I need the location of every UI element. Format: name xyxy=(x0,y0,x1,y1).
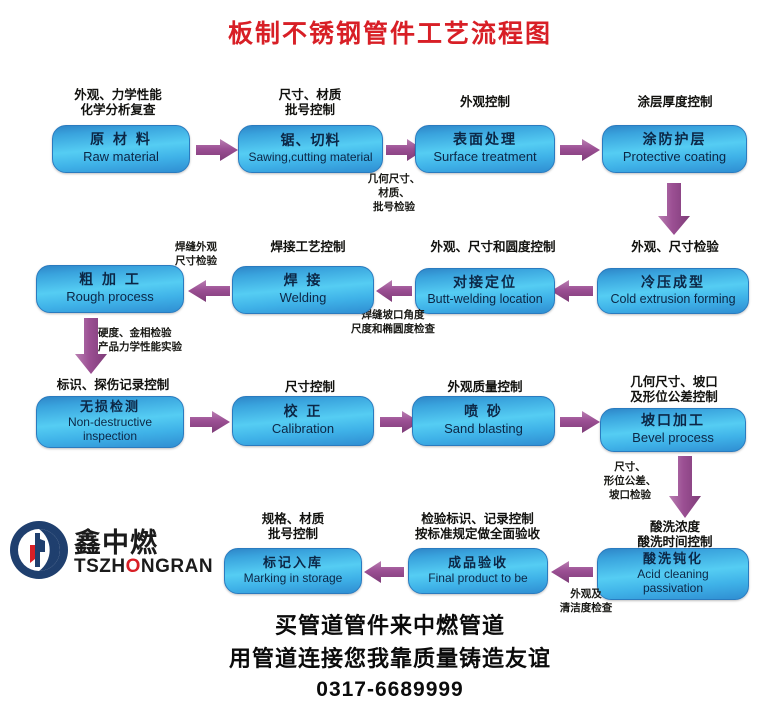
note-bevel-check: 尺寸、 形位公差、 坡口检验 xyxy=(592,460,668,503)
step-welding-cn: 焊 接 xyxy=(284,274,323,290)
cap-welding: 焊接工艺控制 xyxy=(238,240,378,255)
step-welding-en: Welding xyxy=(280,291,327,306)
step-acid-cleaning-en: Acid cleaning passivation xyxy=(637,568,708,595)
cap-calibration: 尺寸控制 xyxy=(240,380,380,395)
step-final-product-en: Final product to be xyxy=(428,572,527,585)
cap-acid-cleaning: 酸洗浓度 酸洗时间控制 xyxy=(600,520,750,550)
step-rough-process-cn: 粗 加 工 xyxy=(79,273,141,289)
cap-protective-coating: 涂层厚度控制 xyxy=(600,95,750,110)
note-after-sawing: 几何尺寸、 材质、 批号检验 xyxy=(358,172,430,215)
step-calibration-en: Calibration xyxy=(272,422,334,437)
step-marking-storage-cn: 标记入库 xyxy=(263,557,323,572)
footer-phone: 0317-6689999 xyxy=(0,678,780,702)
step-sand-blasting-cn: 喷 砂 xyxy=(464,405,503,421)
note-hardness: 硬度、金相检验 产品力学性能实验 xyxy=(98,326,238,354)
step-marking-storage[interactable]: 标记入库 Marking in storage xyxy=(224,548,362,594)
arrow-left-cold-to-butt xyxy=(551,279,593,303)
arrow-right-surface-to-coating xyxy=(560,138,600,162)
step-welding[interactable]: 焊 接 Welding xyxy=(232,266,374,314)
logo-en-o: O xyxy=(126,556,141,577)
step-raw-material[interactable]: 原 材 料 Raw material xyxy=(52,125,190,173)
arrow-left-butt-to-welding xyxy=(376,279,412,303)
step-cold-extrusion[interactable]: 冷压成型 Cold extrusion forming xyxy=(597,268,749,314)
step-rough-process[interactable]: 粗 加 工 Rough process xyxy=(36,265,184,313)
step-surface-treatment-cn: 表面处理 xyxy=(453,133,517,149)
logo-company-name-cn: 鑫中燃 xyxy=(74,521,158,560)
arrow-left-acid-to-final xyxy=(551,560,593,584)
page-title: 板制不锈钢管件工艺流程图 xyxy=(0,14,780,50)
step-raw-material-en: Raw material xyxy=(83,150,159,165)
logo-emblem-icon xyxy=(8,519,70,581)
logo-en-after: NGRAN xyxy=(141,556,213,577)
arrow-down-bevel-to-acid xyxy=(668,456,702,518)
step-sand-blasting[interactable]: 喷 砂 Sand blasting xyxy=(412,396,555,446)
cap-final-product: 检验标识、记录控制 按标准规定做全面验收 xyxy=(390,512,565,542)
step-non-destructive-en: Non-destructive inspection xyxy=(68,416,152,443)
step-bevel-process[interactable]: 坡口加工 Bevel process xyxy=(600,408,746,452)
step-non-destructive[interactable]: 无损检测 Non-destructive inspection xyxy=(36,396,184,448)
step-cold-extrusion-en: Cold extrusion forming xyxy=(610,292,735,306)
logo-en-before: TSZH xyxy=(74,556,126,577)
step-acid-cleaning-cn: 酸洗钝化 xyxy=(643,553,703,568)
step-raw-material-cn: 原 材 料 xyxy=(90,133,152,149)
step-calibration[interactable]: 校 正 Calibration xyxy=(232,396,374,446)
cap-butt-welding: 外观、尺寸和圆度控制 xyxy=(408,240,578,255)
logo-company-name-en: TSZHONGRAN xyxy=(74,556,213,578)
cap-sawing-cutting: 尺寸、材质 批号控制 xyxy=(250,88,370,118)
step-surface-treatment-en: Surface treatment xyxy=(433,150,536,165)
step-rough-process-en: Rough process xyxy=(66,290,153,305)
step-cold-extrusion-cn: 冷压成型 xyxy=(641,276,705,292)
step-calibration-cn: 校 正 xyxy=(284,405,323,421)
arrow-left-welding-to-rough xyxy=(188,279,230,303)
cap-sand-blasting: 外观质量控制 xyxy=(415,380,555,395)
step-bevel-process-en: Bevel process xyxy=(632,431,714,446)
step-bevel-process-cn: 坡口加工 xyxy=(641,414,705,430)
step-sawing-cutting[interactable]: 锯、切料 Sawing,cutting material xyxy=(238,125,383,173)
arrow-down-coating-to-cold xyxy=(657,183,691,235)
step-final-product[interactable]: 成品验收 Final product to be xyxy=(408,548,548,594)
cap-marking-storage: 规格、材质 批号控制 xyxy=(228,512,358,542)
step-butt-welding-en: Butt-welding location xyxy=(427,292,542,306)
cap-raw-material: 外观、力学性能 化学分析复查 xyxy=(48,88,188,118)
step-sawing-cutting-en: Sawing,cutting material xyxy=(248,151,372,164)
step-protective-coating[interactable]: 涂防护层 Protective coating xyxy=(602,125,747,173)
step-surface-treatment[interactable]: 表面处理 Surface treatment xyxy=(415,125,555,173)
step-protective-coating-en: Protective coating xyxy=(623,150,726,165)
step-sand-blasting-en: Sand blasting xyxy=(444,422,523,437)
footer-slogan-line2: 用管道连接您我靠质量铸造友谊 xyxy=(0,641,780,673)
cap-cold-extrusion: 外观、尺寸检验 xyxy=(600,240,750,255)
arrow-right-ndt-to-calibration xyxy=(190,410,230,434)
cap-surface-treatment: 外观控制 xyxy=(415,95,555,110)
step-marking-storage-en: Marking in storage xyxy=(244,572,343,585)
footer-slogan-line1: 买管道管件来中燃管道 xyxy=(0,608,780,640)
step-final-product-cn: 成品验收 xyxy=(448,557,508,572)
flowchart-canvas: 板制不锈钢管件工艺流程图 外观、力学性能 化学分析复查 原 材 料 Raw ma… xyxy=(0,0,780,724)
arrow-left-final-to-marking xyxy=(364,560,404,584)
step-butt-welding-cn: 对接定位 xyxy=(453,276,517,292)
step-protective-coating-cn: 涂防护层 xyxy=(643,133,707,149)
cap-non-destructive: 标识、探伤记录控制 xyxy=(28,378,198,393)
step-sawing-cutting-cn: 锯、切料 xyxy=(281,134,341,150)
company-logo: 鑫中燃 TSZHONGRAN xyxy=(8,515,198,585)
step-non-destructive-cn: 无损检测 xyxy=(80,401,140,416)
arrow-right-raw-to-sawing xyxy=(196,138,238,162)
arrow-right-sand-to-bevel xyxy=(560,410,600,434)
cap-bevel-process: 几何尺寸、坡口 及形位公差控制 xyxy=(598,375,750,405)
